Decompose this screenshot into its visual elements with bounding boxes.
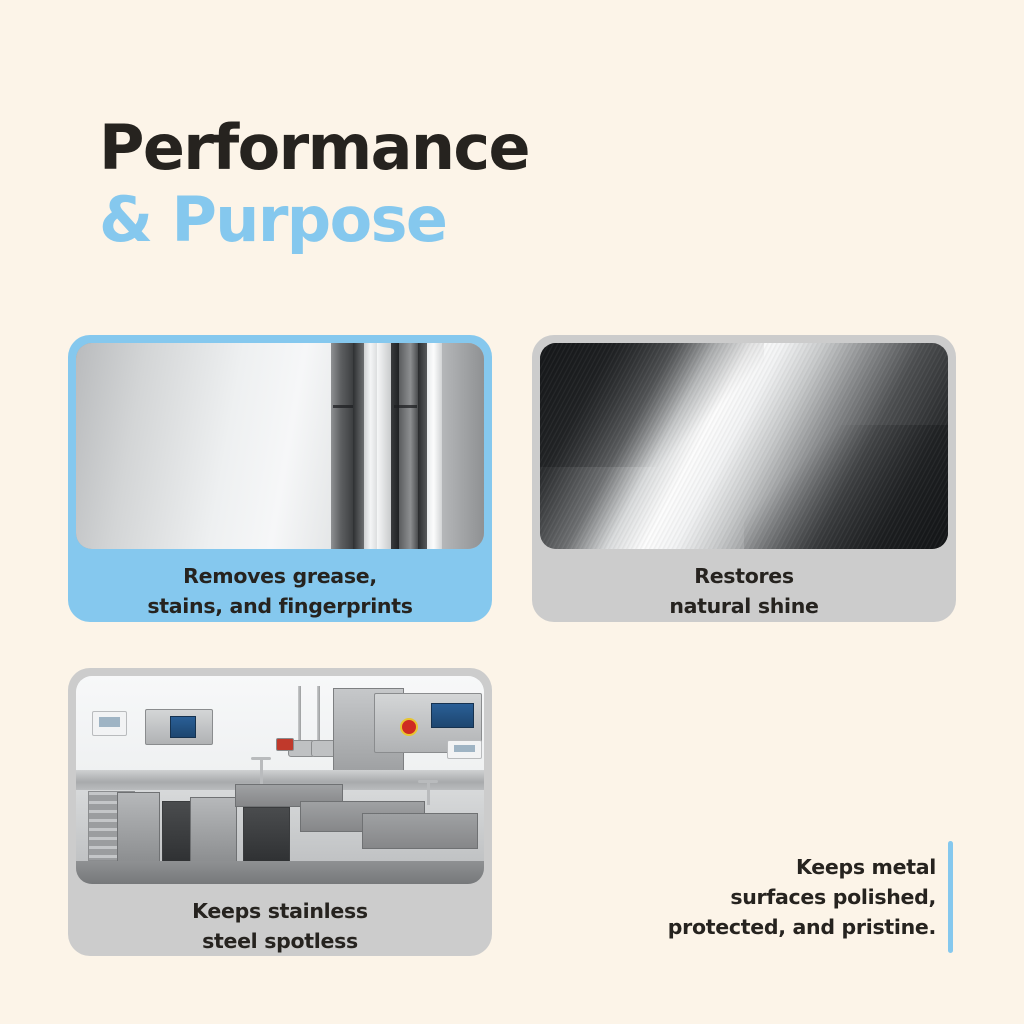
panel-label [447,740,482,759]
caption-line-2: steel spotless [76,926,484,956]
pipe-label-red [276,738,294,750]
side-note: Keeps metal surfaces polished, protected… [606,852,936,942]
kitchen-floor [76,861,484,884]
brushed-metal-gradient [540,343,948,549]
fridge-handle-strip [418,343,427,549]
page-title-line-1: Performance [99,112,799,184]
under-counter-cabinet [117,792,160,863]
feature-card-caption: Removes grease, stains, and fingerprints [76,549,484,621]
caption-line-2: stains, and fingerprints [76,591,484,621]
stainless-steel-refrigerator-surface-photo [76,343,484,549]
fridge-handle-strip [353,343,364,549]
counter-machine-screen [170,716,196,739]
fridge-handle-strip [331,343,353,549]
fridge-handle-strip [427,343,442,549]
metal-shadow-bottom-right [744,425,948,549]
under-counter-cabinet [190,797,237,863]
feature-card-caption: Keeps stainless steel spotless [76,884,484,956]
page-title: Performance & Purpose [99,112,799,256]
side-note-line-2: surfaces polished, [606,882,936,912]
page-title-line-2: & Purpose [99,184,799,256]
under-counter-cabinet [243,807,290,863]
wall-pipe [298,686,301,744]
feature-card-keeps-spotless: Keeps stainless steel spotless [68,668,492,956]
wall-pipe [317,686,320,744]
feature-card-restores-shine: Restores natural shine [532,335,956,622]
fridge-handle-strip [377,343,391,549]
fridge-handle-strip [399,343,418,549]
feature-card-removes-grease: Removes grease, stains, and fingerprints [68,335,492,622]
fridge-handle-notch [333,405,353,408]
side-note-line-1: Keeps metal [606,852,936,882]
fridge-handle-strip [364,343,377,549]
brushed-metal-diagonal-shine-photo [540,343,948,549]
commercial-stainless-steel-kitchen-photo [76,676,484,884]
caption-line-1: Keeps stainless [76,896,484,926]
caption-line-1: Restores [540,561,948,591]
fridge-side-panel [442,343,484,549]
kitchen-scene [76,676,484,884]
accent-bar [948,841,953,953]
side-note-line-3: protected, and pristine. [606,912,936,942]
caption-line-1: Removes grease, [76,561,484,591]
fridge-panel-gradient [76,343,484,549]
sink-faucet-icon [260,757,263,784]
emergency-stop-button[interactable] [400,718,418,736]
fridge-handle-notch [394,405,416,408]
metal-shadow-top-left [540,343,764,467]
sink-basin [362,813,478,848]
feature-card-caption: Restores natural shine [540,549,948,621]
control-panel-screen [431,703,474,728]
caption-line-2: natural shine [540,591,948,621]
fridge-handle-strip [391,343,399,549]
wall-thermostat-icon [92,711,127,736]
sink-faucet-icon [427,780,430,805]
